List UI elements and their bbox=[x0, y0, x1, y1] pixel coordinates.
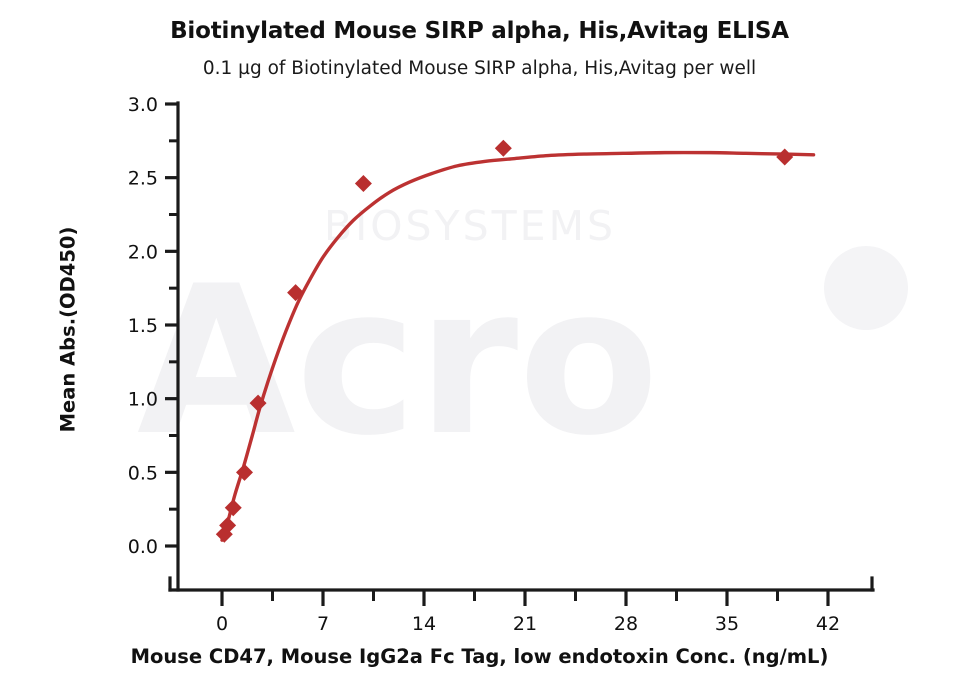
x-tick-label: 14 bbox=[412, 613, 436, 635]
data-point-marker bbox=[495, 140, 512, 157]
x-tick-label: 21 bbox=[513, 613, 537, 635]
y-tick-label: 2.5 bbox=[128, 168, 158, 190]
y-tick-label: 1.0 bbox=[128, 389, 158, 411]
y-tick-label: 0.5 bbox=[128, 462, 158, 484]
data-point-marker bbox=[225, 499, 242, 516]
y-axis-title: Mean Abs.(OD450) bbox=[57, 200, 80, 460]
x-tick-label: 42 bbox=[816, 613, 840, 635]
y-tick-label: 1.5 bbox=[128, 315, 158, 337]
x-tick-label: 0 bbox=[216, 613, 228, 635]
x-tick-label: 28 bbox=[614, 613, 638, 635]
elisa-chart-figure: Biotinylated Mouse SIRP alpha, His,Avita… bbox=[0, 0, 959, 685]
watermark-brand: Acro bbox=[137, 243, 659, 481]
y-tick-label: 3.0 bbox=[128, 94, 158, 116]
data-point-marker bbox=[355, 175, 372, 192]
x-axis-title: Mouse CD47, Mouse IgG2a Fc Tag, low endo… bbox=[0, 645, 959, 668]
y-tick-label: 0.0 bbox=[128, 536, 158, 558]
x-axis-tick-labels: 071421283542 bbox=[216, 613, 840, 635]
x-axis-ticks bbox=[222, 590, 828, 606]
x-tick-label: 7 bbox=[317, 613, 329, 635]
data-point-marker bbox=[776, 149, 793, 166]
x-tick-label: 35 bbox=[715, 613, 739, 635]
plot-canvas: BIOSYSTEMS Acro 0.00.51.01.52.02.53.0 07… bbox=[0, 0, 959, 685]
watermark-registered-dot bbox=[824, 246, 908, 330]
y-tick-label: 2.0 bbox=[128, 241, 158, 263]
y-axis-tick-labels: 0.00.51.01.52.02.53.0 bbox=[128, 94, 158, 558]
